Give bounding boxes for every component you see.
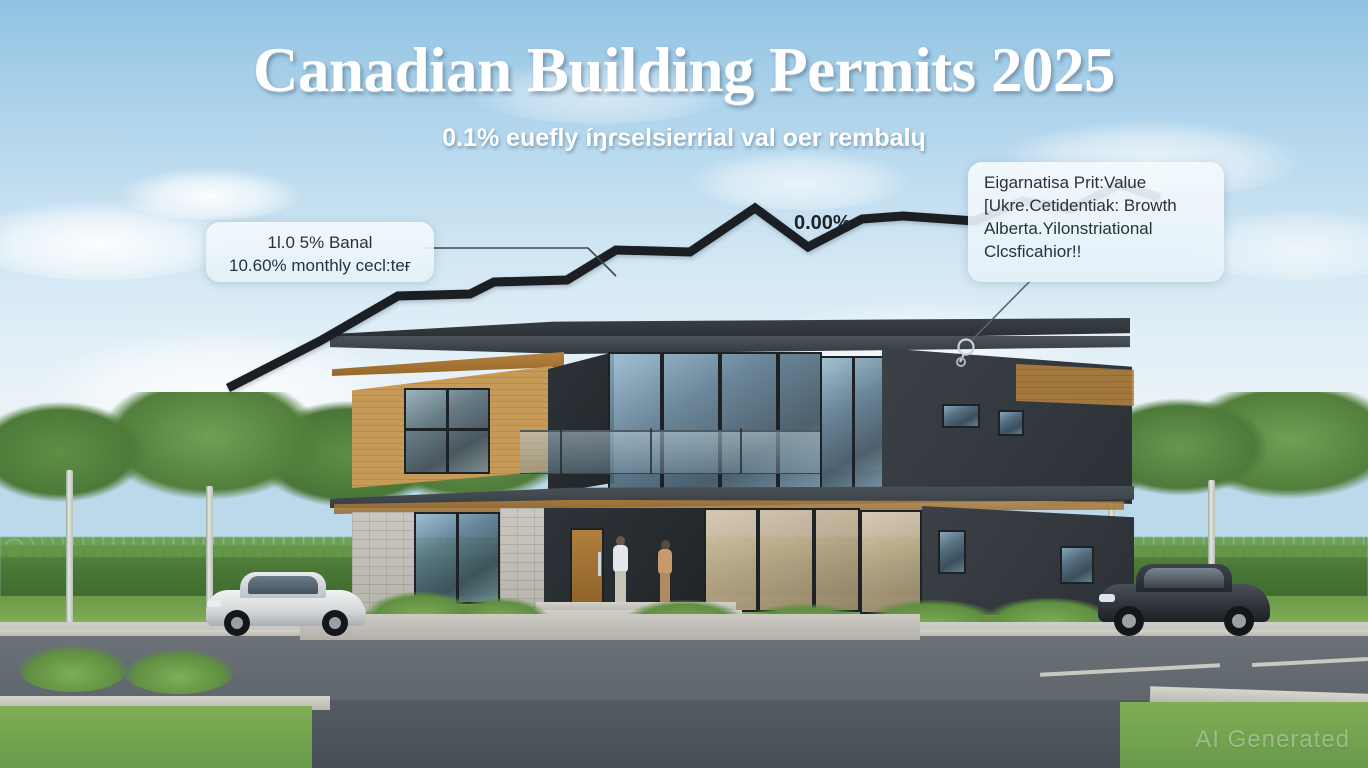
watermark: AI Generated [1195, 726, 1350, 754]
right-callout-line-4: Clcsficahior!! [984, 240, 1208, 263]
page-title: Canadian Building Permits 2025 [0, 34, 1368, 107]
right-callout[interactable]: Eigarnatisa Prit:Value [Ukre.Cetidentiak… [968, 162, 1224, 282]
right-callout-line-2: [Ukre.Cetidentiak: Browth [984, 194, 1208, 217]
right-callout-leader [972, 281, 1030, 340]
magnifier-icon [957, 340, 974, 367]
permit-trend-chart [0, 0, 1368, 768]
poster-canvas: Canadian Building Permits 2025 0.1% euef… [0, 0, 1368, 768]
chart-data-label: 0.00% [794, 212, 851, 235]
right-callout-line-3: Alberta.Yilonstriational [984, 217, 1208, 240]
right-callout-line-1: Eigarnatisa Prit:Value [984, 171, 1208, 194]
left-callout-line-1: 1l.0 5% Banal [222, 231, 418, 254]
page-subtitle: 0.1% euefly íŋɾselsierrial val oer remba… [0, 124, 1368, 153]
left-callout-line-2: 10.60% monthly cecl:teғ [222, 254, 418, 277]
left-callout[interactable]: 1l.0 5% Banal 10.60% monthly cecl:teғ [206, 222, 434, 282]
